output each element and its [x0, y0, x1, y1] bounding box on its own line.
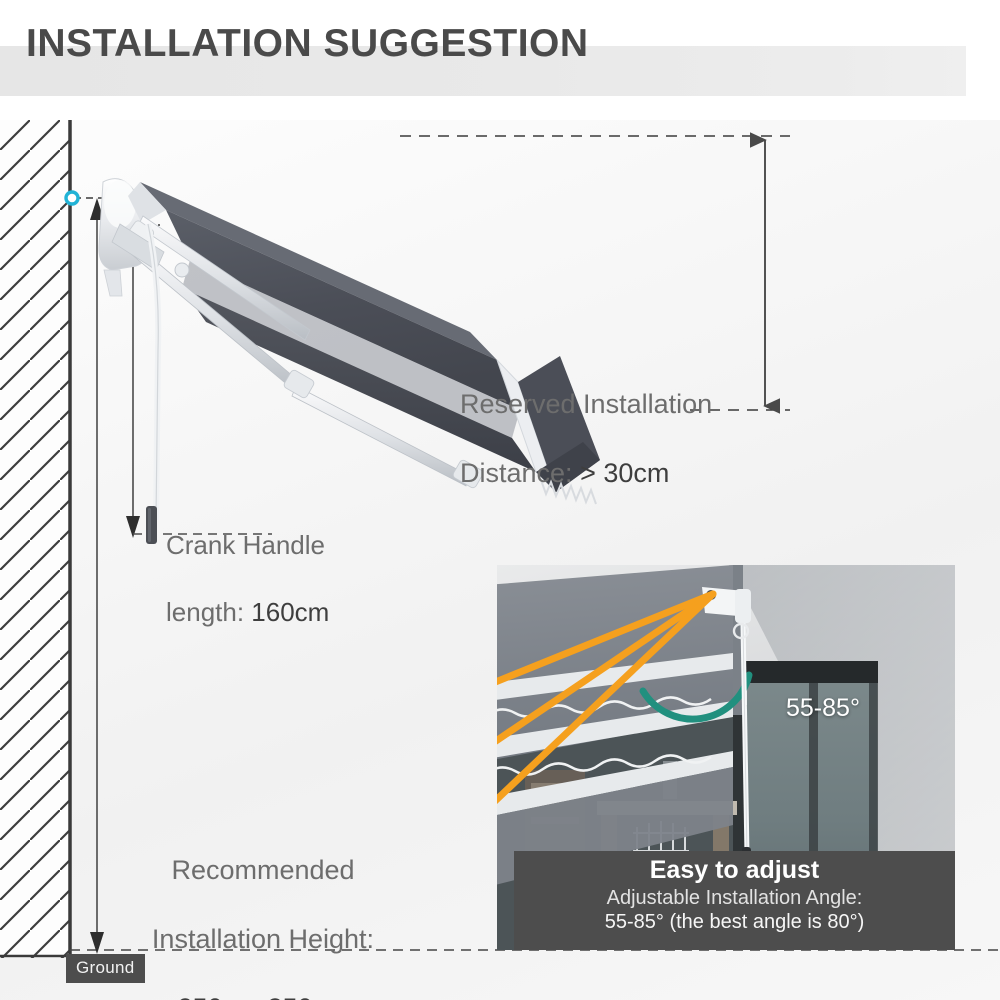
page-title: INSTALLATION SUGGESTION: [26, 22, 589, 66]
reserved-distance-label: Reserved Installation Distance: > 30cm: [460, 352, 712, 525]
crank-handle-line2: length: 160cm: [166, 596, 329, 629]
ground-label-badge: Ground: [66, 954, 145, 983]
angle-range-overlay: 55-85°: [786, 694, 860, 723]
crank-handle-label: Crank Handle length: 160cm: [166, 496, 329, 662]
wall-hatched: [0, 120, 70, 958]
caption-detail: 55-85° (the best angle is 80°): [514, 910, 955, 935]
reserved-distance-prefix: Distance:: [460, 458, 580, 488]
crank-handle-line1: Crank Handle: [166, 529, 329, 562]
recommended-height-line3: 250cm-350cm: [118, 991, 408, 1000]
reserved-distance-value: > 30cm: [580, 458, 669, 488]
reserved-distance-line1: Reserved Installation: [460, 387, 712, 422]
recommended-height-line1: Recommended: [118, 853, 408, 888]
installation-suggestion-page: INSTALLATION SUGGESTION: [0, 0, 1000, 1000]
recommended-height-label: Recommended Installation Height: 250cm-3…: [118, 818, 408, 1000]
crank-handle-prefix: length:: [166, 597, 251, 627]
caption-title: Easy to adjust: [514, 855, 955, 886]
caption-subtitle: Adjustable Installation Angle:: [514, 886, 955, 910]
recommended-height-line2: Installation Height:: [118, 922, 408, 957]
reserved-distance-line2: Distance: > 30cm: [460, 456, 712, 491]
photo-caption: Easy to adjust Adjustable Installation A…: [514, 851, 955, 950]
crank-handle-value: 160cm: [251, 597, 329, 627]
installation-height-dimension: [90, 198, 104, 954]
